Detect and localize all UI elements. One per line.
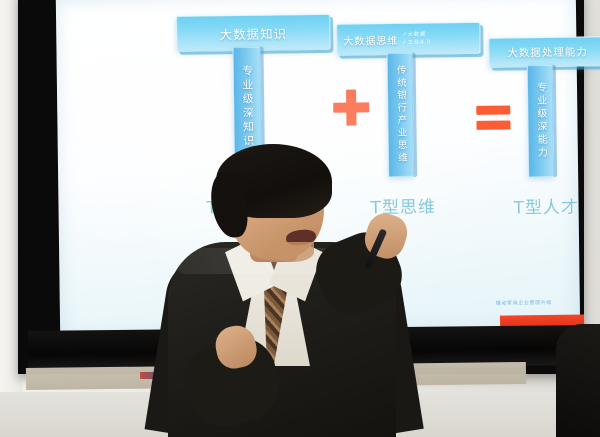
slide-box-thinking-title: 大数据思维 [343, 31, 398, 47]
photo-scene: 大数据知识 大数据思维 ✓大数据 ✓工业4.0 大数据处理能力 专业级深知识 传… [0, 0, 600, 437]
equals-operator-icon [475, 101, 511, 133]
presenter-chin [270, 242, 314, 262]
presenter [150, 150, 410, 437]
slide-box-thinking-checklist: ✓大数据 ✓工业4.0 [402, 32, 431, 46]
foreground-figure-edge [556, 324, 600, 437]
plus-operator-icon [329, 83, 374, 132]
checklist-item-1: ✓大数据 [402, 32, 431, 39]
slide-box-thinking-header: 大数据思维 ✓大数据 ✓工业4.0 [336, 22, 480, 56]
checklist-item-2: ✓工业4.0 [402, 39, 431, 46]
slide-footnote: 推动家具企业管理升级 [496, 299, 552, 307]
slide-box-capability-header: 大数据处理能力 [488, 36, 600, 68]
slide-caption-talent: T型人才 [513, 193, 579, 219]
slide-stem-capability: 专业级深能力 [527, 65, 554, 177]
